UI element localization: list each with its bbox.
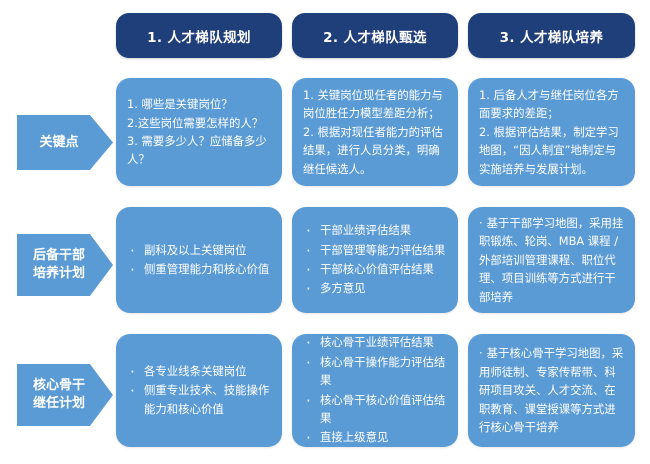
row-label-core-backbone-plan[interactable]: 核心骨干 继任计划 [17, 364, 113, 426]
cell-r1c1[interactable]: 1. 哪些是关键岗位？ 2.这些岗位需要怎样的人？ 3. 需要多少人？应储备多少… [116, 78, 282, 186]
list-item: 侧重专业技术、技能操作能力和核心价值 [127, 381, 271, 418]
cell-r1c1-line2: 2.这些岗位需要怎样的人？ [127, 114, 271, 132]
header-pill-3-label: 3. 人才梯队培养 [500, 26, 604, 46]
list-item: 干部核心价值评估结果 [303, 260, 447, 278]
list-item: 核心骨干业绩评估结果 [303, 334, 447, 352]
cell-r3c2[interactable]: 核心骨干业绩评估结果 核心骨干操作能力评估结果 核心骨干核心价值评估结果 直接上… [292, 334, 458, 447]
row-label-key-points-line1: 关键点 [39, 134, 78, 152]
header-pill-2-label: 2. 人才梯队甄选 [323, 26, 427, 46]
cell-r2c3[interactable]: ·基于干部学习地图，采用挂职锻炼、轮岗、MBA 课程 / 外部培训管理课程、职位… [468, 207, 635, 313]
list-item: 副科及以上关键岗位 [127, 241, 271, 259]
bullet-icon: · [479, 346, 483, 360]
header-pill-1-label: 1. 人才梯队规划 [147, 26, 251, 46]
cell-r2c3-paragraph: ·基于干部学习地图，采用挂职锻炼、轮岗、MBA 课程 / 外部培训管理课程、职位… [479, 214, 624, 306]
cell-r3c3-text: 基于核心骨干学习地图，采用师徒制、专家传帮带、科研项目攻关、人才交流、在职教育、… [479, 346, 623, 434]
cell-r3c1-list: 各专业线条关键岗位 侧重专业技术、技能操作能力和核心价值 [127, 362, 271, 418]
header-pill-1[interactable]: 1. 人才梯队规划 [116, 13, 282, 58]
cell-r3c3-paragraph: ·基于核心骨干学习地图，采用师徒制、专家传帮带、科研项目攻关、人才交流、在职教育… [479, 344, 624, 436]
cell-r2c1[interactable]: 副科及以上关键岗位 侧重管理能力和核心价值 [116, 207, 282, 313]
cell-r1c3-line2: 2. 根据评估结果，制定学习地图，“因人制宜”地制定与实施培养与发展计划。 [479, 123, 624, 178]
row-label-key-points[interactable]: 关键点 [17, 115, 113, 170]
row-label-core-backbone-plan-line1: 核心骨干 [33, 377, 85, 395]
header-pill-3[interactable]: 3. 人才梯队培养 [468, 13, 635, 58]
list-item: 多方意见 [303, 279, 447, 297]
row-label-reserve-cadre-plan[interactable]: 后备干部 培养计划 [17, 234, 113, 296]
cell-r2c2-list: 干部业绩评估结果 干部管理等能力评估结果 干部核心价值评估结果 多方意见 [303, 221, 447, 298]
header-row: 1. 人才梯队规划 2. 人才梯队甄选 3. 人才梯队培养 [0, 0, 650, 70]
cell-r1c1-line1: 1. 哪些是关键岗位？ [127, 95, 271, 113]
cell-r3c1[interactable]: 各专业线条关键岗位 侧重专业技术、技能操作能力和核心价值 [116, 334, 282, 447]
cell-r3c2-list: 核心骨干业绩评估结果 核心骨干操作能力评估结果 核心骨干核心价值评估结果 直接上… [303, 334, 447, 447]
cell-r1c2[interactable]: 1. 关键岗位现任者的能力与岗位胜任力模型差距分析； 2. 根据对现任者能力的评… [292, 78, 458, 186]
list-item: 直接上级意见 [303, 428, 447, 446]
row-label-core-backbone-plan-line2: 继任计划 [33, 395, 85, 413]
list-item: 各专业线条关键岗位 [127, 362, 271, 380]
cell-r1c3[interactable]: 1. 后备人才与继任岗位各方面要求的差距； 2. 根据评估结果，制定学习地图，“… [468, 78, 635, 186]
cell-r2c3-text: 基于干部学习地图，采用挂职锻炼、轮岗、MBA 课程 / 外部培训管理课程、职位代… [479, 216, 623, 304]
list-item: 干部业绩评估结果 [303, 221, 447, 239]
cell-r1c3-line1: 1. 后备人才与继任岗位各方面要求的差距； [479, 86, 624, 123]
row-label-reserve-cadre-plan-line1: 后备干部 [33, 247, 85, 265]
cell-r3c3[interactable]: ·基于核心骨干学习地图，采用师徒制、专家传帮带、科研项目攻关、人才交流、在职教育… [468, 334, 635, 447]
diagram-canvas: 1. 人才梯队规划 2. 人才梯队甄选 3. 人才梯队培养 关键点 后备干部 培… [0, 0, 650, 464]
list-item: 干部管理等能力评估结果 [303, 241, 447, 259]
cell-r2c1-list: 副科及以上关键岗位 侧重管理能力和核心价值 [127, 241, 271, 279]
header-pill-2[interactable]: 2. 人才梯队甄选 [292, 13, 458, 58]
cell-r1c2-line2: 2. 根据对现任者能力的评估结果，进行人员分类，明确继任候选人。 [303, 123, 447, 178]
bullet-icon: · [479, 216, 483, 230]
cell-r1c2-line1: 1. 关键岗位现任者的能力与岗位胜任力模型差距分析； [303, 86, 447, 123]
list-item: 侧重管理能力和核心价值 [127, 260, 271, 278]
list-item: 核心骨干核心价值评估结果 [303, 391, 447, 428]
list-item: 核心骨干操作能力评估结果 [303, 353, 447, 390]
row-label-reserve-cadre-plan-line2: 培养计划 [33, 265, 85, 283]
cell-r1c1-line3: 3. 需要多少人？应储备多少人？ [127, 132, 271, 169]
cell-r2c2[interactable]: 干部业绩评估结果 干部管理等能力评估结果 干部核心价值评估结果 多方意见 [292, 207, 458, 313]
